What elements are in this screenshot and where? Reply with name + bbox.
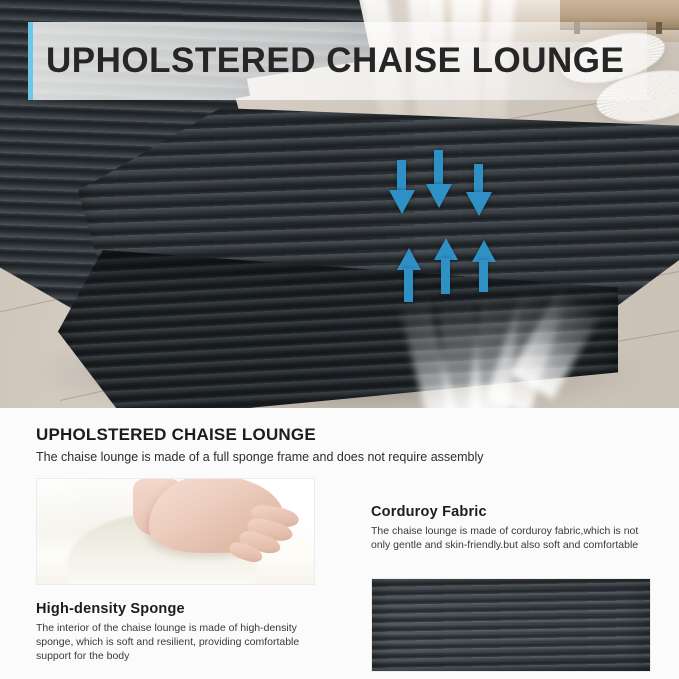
- title-accent-bar: [28, 22, 33, 100]
- panel-heading: UPHOLSTERED CHAISE LOUNGE: [36, 425, 316, 445]
- hero-title-banner: UPHOLSTERED CHAISE LOUNGE: [28, 22, 647, 100]
- corduroy-feature-title: Corduroy Fabric: [371, 504, 487, 520]
- feature-panel: UPHOLSTERED CHAISE LOUNGE The chaise lou…: [0, 408, 679, 679]
- corduroy-feature-body: The chaise lounge is made of corduroy fa…: [371, 524, 651, 552]
- hero-image: UPHOLSTERED CHAISE LOUNGE: [0, 0, 679, 408]
- panel-subheading: The chaise lounge is made of a full spon…: [36, 450, 484, 464]
- corduroy-swatch-photo: [371, 578, 651, 672]
- hero-title: UPHOLSTERED CHAISE LOUNGE: [46, 41, 624, 81]
- product-marketing-image: UPHOLSTERED CHAISE LOUNGE UPHOLSTERED CH…: [0, 0, 679, 679]
- foam-press-photo: [36, 478, 315, 585]
- sponge-feature-body: The interior of the chaise lounge is mad…: [36, 621, 328, 663]
- sponge-feature-title: High-density Sponge: [36, 601, 185, 617]
- cabinet-leg: [656, 22, 662, 34]
